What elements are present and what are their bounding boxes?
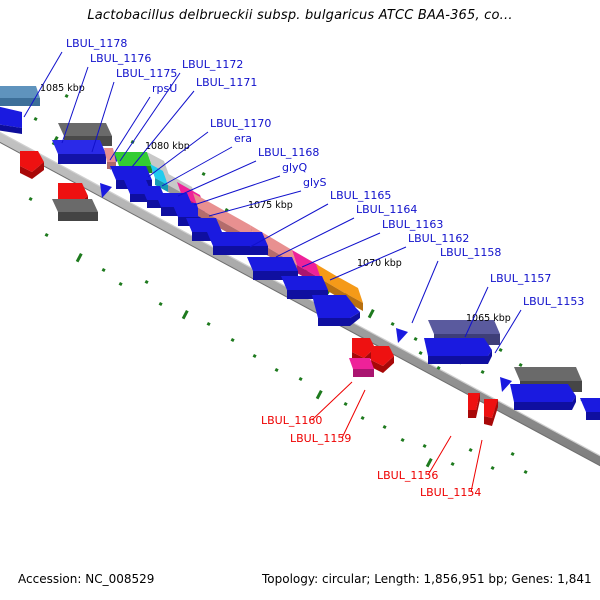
leader-line (342, 390, 365, 438)
gene-label-LBUL_1154[interactable]: LBUL_1154 (420, 486, 481, 499)
gene-feature[interactable] (0, 84, 40, 106)
gene-feature[interactable] (52, 140, 106, 164)
gene-feature[interactable] (0, 106, 22, 134)
gene-label-LBUL_1158[interactable]: LBUL_1158 (440, 246, 501, 259)
gene-label-LBUL_1171[interactable]: LBUL_1171 (196, 76, 257, 89)
scale-tick-label: 1065 kbp (466, 313, 511, 324)
gene-label-LBUL_1160[interactable]: LBUL_1160 (261, 414, 322, 427)
gene-feature[interactable] (424, 338, 492, 364)
gene-feature[interactable] (207, 232, 268, 255)
gene-labels-red[interactable]: LBUL_1160 LBUL_1159 LBUL_1156 LBUL_1154 (261, 414, 481, 499)
gene-label-era[interactable]: era (234, 132, 252, 145)
gene-label-glyS[interactable]: glyS (303, 176, 327, 189)
scale-tick-label: 1070 kbp (357, 258, 402, 269)
gene-label-rpsU[interactable]: rpsU (152, 82, 177, 95)
gene-label-LBUL_1175[interactable]: LBUL_1175 (116, 67, 177, 80)
gene-features[interactable] (0, 84, 600, 426)
gene-label-LBUL_1176[interactable]: LBUL_1176 (90, 52, 151, 65)
gene-label-LBUL_1162[interactable]: LBUL_1162 (408, 232, 469, 245)
gene-label-LBUL_1168[interactable]: LBUL_1168 (258, 146, 319, 159)
scale-tick-label: 1075 kbp (248, 200, 293, 211)
leader-line (178, 161, 256, 196)
gene-label-LBUL_1164[interactable]: LBUL_1164 (356, 203, 417, 216)
gene-label-glyQ[interactable]: glyQ (282, 161, 308, 174)
gene-feature[interactable] (484, 399, 498, 426)
gene-label-LBUL_1159[interactable]: LBUL_1159 (290, 432, 351, 445)
gene-feature[interactable] (468, 393, 480, 418)
genome-map-viewer: Lactobacillus delbrueckii subsp. bulgari… (0, 0, 600, 600)
gene-label-LBUL_1165[interactable]: LBUL_1165 (330, 189, 391, 202)
leader-line (471, 440, 482, 492)
gene-label-LBUL_1170[interactable]: LBUL_1170 (210, 117, 271, 130)
gene-feature[interactable] (371, 346, 394, 373)
accession-text: Accession: NC_008529 (18, 572, 154, 586)
genome-summary-text: Topology: circular; Length: 1,856,951 bp… (262, 572, 592, 586)
leader-line (276, 218, 354, 257)
leader-line (412, 261, 438, 323)
gene-feature[interactable] (52, 199, 98, 221)
gene-label-LBUL_1153[interactable]: LBUL_1153 (523, 295, 584, 308)
gene-label-LBUL_1163[interactable]: LBUL_1163 (382, 218, 443, 231)
gene-label-LBUL_1178[interactable]: LBUL_1178 (66, 37, 127, 50)
scale-tick-label: 1085 kbp (40, 83, 85, 94)
gene-feature[interactable] (510, 384, 576, 410)
gene-feature[interactable] (396, 328, 408, 343)
leader-line (148, 132, 208, 177)
gene-feature[interactable] (580, 398, 600, 420)
gene-feature[interactable] (349, 358, 374, 377)
gene-label-LBUL_1156[interactable]: LBUL_1156 (377, 469, 438, 482)
gene-label-LBUL_1172[interactable]: LBUL_1172 (182, 58, 243, 71)
gene-label-LBUL_1157[interactable]: LBUL_1157 (490, 272, 551, 285)
genome-diagram-canvas[interactable]: 1085 kbp 1080 kbp 1075 kbp 1070 kbp 1065… (0, 0, 600, 600)
leader-line (162, 147, 232, 186)
leader-line (110, 97, 150, 160)
